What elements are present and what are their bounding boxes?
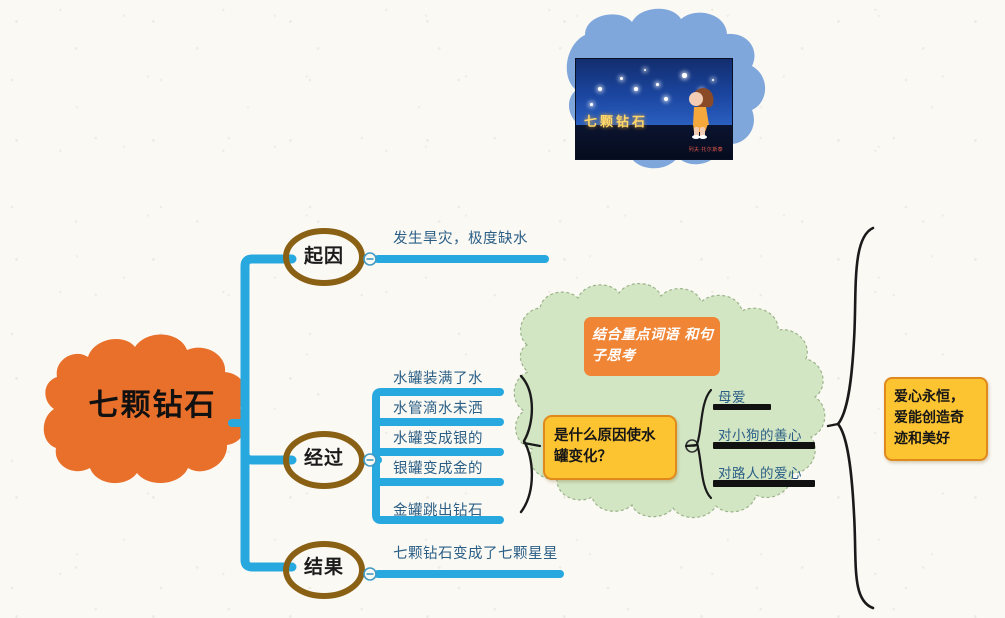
leaf-result-0[interactable]: 七颗钻石变成了七颗星星	[393, 546, 558, 564]
topic-ellipses	[286, 231, 362, 596]
cover-image: 七颗钻石 列夫·托尔斯泰	[575, 58, 733, 160]
analysis-callout[interactable]: 结合重点词语 和句子思考	[584, 317, 720, 376]
topic-node-result[interactable]: 结果	[288, 556, 360, 579]
leaf-origin-0[interactable]: 发生旱灾，极度缺水	[393, 231, 528, 249]
leaf-process-0[interactable]: 水罐装满了水	[393, 371, 483, 389]
conclusion-box[interactable]: 爱心永恒， 爱能创造奇 迹和美好	[884, 377, 988, 461]
star-icon	[682, 73, 687, 78]
star-icon	[620, 77, 623, 80]
topic-node-origin[interactable]: 起因	[288, 245, 360, 268]
star-icon	[712, 79, 714, 81]
reason-item-0[interactable]: 母爱	[718, 386, 746, 406]
reason-item-2[interactable]: 对路人的爱心	[718, 462, 802, 482]
leaf-process-2[interactable]: 水罐变成银的	[393, 431, 483, 449]
collapse-toggle-result[interactable]	[364, 568, 376, 580]
conclusion-brace	[828, 228, 873, 608]
star-icon	[664, 97, 668, 101]
reason-item-1[interactable]: 对小狗的善心	[718, 424, 802, 444]
cover-image-credit: 列夫·托尔斯泰	[689, 146, 723, 153]
star-icon	[590, 103, 593, 106]
mindmap-canvas: 七颗钻石 列夫·托尔斯泰 七颗钻石 起因 经过 结果 发生旱灾，极度缺水 水罐装…	[0, 0, 1005, 618]
star-icon	[644, 69, 646, 71]
leaf-process-4[interactable]: 金罐跳出钻石	[393, 503, 483, 521]
collapse-toggle-origin[interactable]	[364, 253, 376, 265]
mindmap-vector-layer	[0, 0, 1005, 618]
collapse-toggle-process[interactable]	[364, 454, 376, 466]
star-icon	[634, 87, 638, 91]
cover-image-title: 七颗钻石	[584, 111, 648, 130]
star-icon	[598, 87, 602, 91]
leaf-process-3[interactable]: 银罐变成金的	[393, 461, 483, 479]
girl-illustration-icon	[684, 87, 718, 139]
leaf-process-1[interactable]: 水管滴水未洒	[393, 401, 483, 419]
topic-node-process[interactable]: 经过	[288, 447, 360, 470]
center-topic-label[interactable]: 七颗钻石	[45, 388, 260, 425]
star-icon	[656, 83, 659, 86]
analysis-question-box[interactable]: 是什么原因使水 罐变化？	[543, 415, 677, 480]
